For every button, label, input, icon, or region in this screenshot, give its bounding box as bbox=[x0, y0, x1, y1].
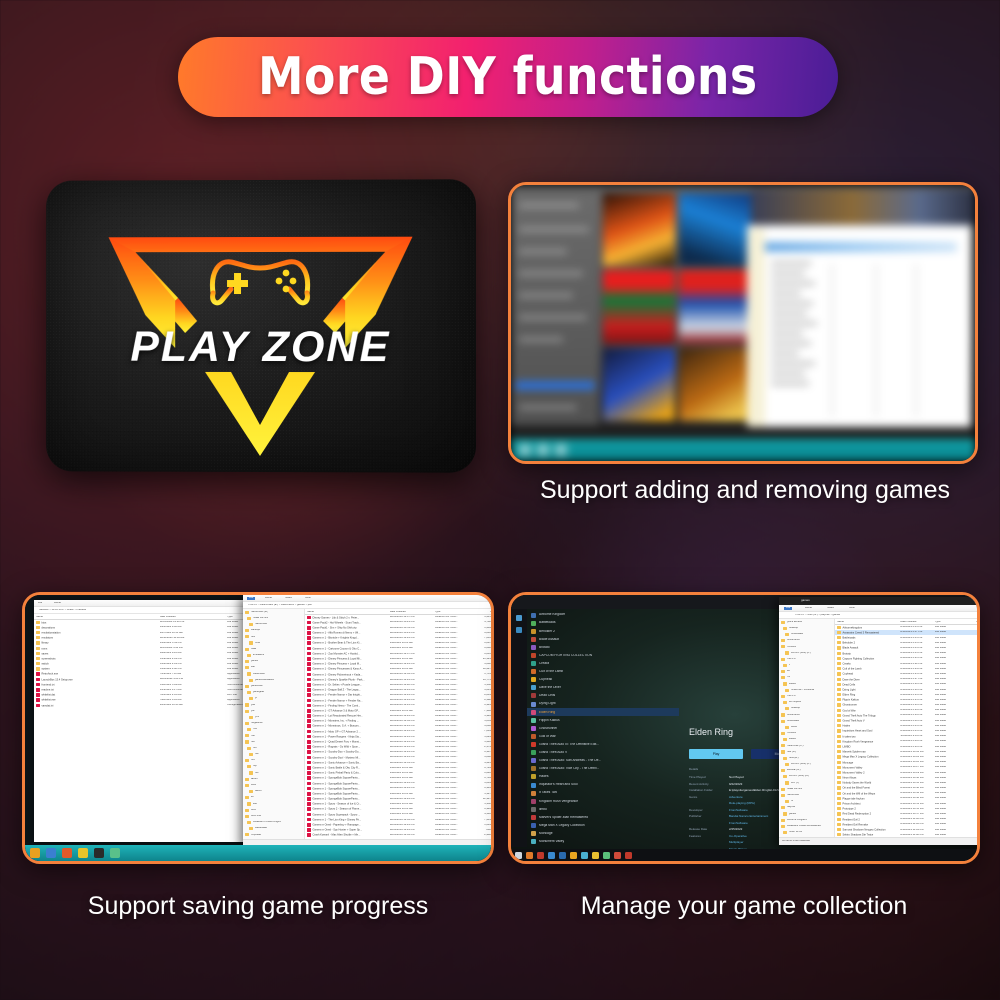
folder-icon bbox=[837, 771, 841, 774]
tree-item-label: Other v1.02 bbox=[789, 831, 803, 834]
cell-date: 8/31/2023 6:30 PM bbox=[900, 683, 935, 686]
folder-icon bbox=[781, 825, 785, 828]
list-item[interactable]: Grand Theft Auto III: The Definitive Edi… bbox=[527, 741, 679, 749]
cell-type: UltraISO ZIP CDR... bbox=[435, 793, 469, 796]
folder-icon bbox=[249, 697, 253, 700]
explorer-window-launchbox[interactable]: File Home Share View This PC > LaunchBox… bbox=[243, 595, 494, 847]
application-icon bbox=[307, 745, 311, 749]
cell-type: File folder bbox=[935, 673, 961, 676]
detail-value: Co-Operative bbox=[729, 834, 747, 838]
list-item[interactable]: Brotato bbox=[527, 643, 679, 651]
taskbar[interactable] bbox=[25, 845, 491, 861]
detail-value: Bandai Namco Entertainment bbox=[729, 814, 768, 818]
cell-name: Airbornekingdom bbox=[837, 626, 900, 630]
cell-date: 12/20/2019 12:24 PM bbox=[390, 741, 435, 744]
cell-size: 1,751 KB bbox=[469, 673, 494, 676]
game-name: Inquisitor's Heart and Soul bbox=[539, 783, 578, 786]
folder-icon bbox=[837, 812, 841, 815]
application-icon bbox=[307, 678, 311, 682]
cell-type: UltraISO ZIP CDR... bbox=[435, 782, 469, 785]
tree-item-label: Music bbox=[791, 726, 798, 729]
cell-name: Games nr 1 - Dr. Seltex + Puzzle League.… bbox=[307, 683, 390, 687]
folder-icon bbox=[837, 683, 841, 686]
folder-icon bbox=[785, 781, 789, 784]
cell-type: File folder bbox=[935, 652, 961, 655]
tree-item-label: Airborne Kingdom bbox=[787, 819, 808, 822]
cell-date: 8/31/2023 10:51 PM bbox=[900, 803, 935, 806]
tree-item-label: BATRO (386) (F:) bbox=[791, 652, 811, 655]
cell-name: Games nr 1 - Finding Nemo - The Conti... bbox=[307, 704, 390, 708]
list-item[interactable]: Marvel's Spider-Man Remastered bbox=[527, 813, 679, 821]
folder-tree[interactable]: LaunchBox (E:)install me firstLaunchBoxB… bbox=[243, 609, 305, 839]
tree-item-label: psp bbox=[253, 765, 257, 768]
screenshot-panel-save-progress: File Home Network > 10.10.10.2 > Share >… bbox=[22, 592, 494, 864]
tree-item-label: switch bbox=[255, 790, 262, 793]
cell-name: Games nr 1 - Disney's Sparkle Plunk - Pa… bbox=[307, 678, 390, 682]
folder-icon bbox=[783, 701, 787, 704]
explorer-addressbar[interactable]: This PC > SSD (G:) > playnite > games bbox=[779, 612, 980, 619]
tree-item-label: snes bbox=[251, 784, 256, 787]
list-item[interactable]: God of War bbox=[527, 732, 679, 740]
cell-type: UltraISO ZIP CDR... bbox=[435, 637, 469, 640]
cell-name: Games nr 1 - Disney Pickmeinout + Kada..… bbox=[307, 673, 390, 677]
cell-date: 8/31/2023 6:05 PM bbox=[900, 626, 935, 629]
cell-date: 8/31/2023 6:05 PM bbox=[900, 637, 935, 640]
tree-item-label: Quick access bbox=[787, 621, 802, 624]
detail-value: Role-playing (RPG) bbox=[729, 801, 755, 805]
cell-size: 4,130 KB bbox=[469, 813, 494, 816]
list-item[interactable]: Cult of the Lamb bbox=[527, 668, 679, 676]
detail-label: Developer bbox=[689, 808, 729, 812]
folder-icon bbox=[785, 726, 789, 729]
cell-date: 8/31/2023 10:57 PM bbox=[900, 813, 935, 816]
game-name: Dave the Diver bbox=[539, 686, 561, 689]
folder-icon bbox=[781, 713, 785, 716]
cell-date: 1/26/2024 9:59 PM bbox=[900, 735, 935, 738]
cell-type: File folder bbox=[935, 782, 961, 785]
cell-type: UltraISO ZIP CDR... bbox=[435, 704, 469, 707]
cell-name: Cult of the Lamb bbox=[837, 667, 900, 671]
playnite-left-rail[interactable] bbox=[511, 609, 527, 847]
folder-icon bbox=[785, 763, 789, 766]
game-cover-grid bbox=[603, 193, 751, 421]
cell-type: UltraISO ZIP CDR... bbox=[435, 813, 469, 816]
game-icon bbox=[531, 637, 536, 642]
game-icon bbox=[531, 702, 536, 707]
cell-name: Games nr Oned - Spy Hunter + Super Sp... bbox=[307, 828, 390, 832]
cell-name: Games nr 1 - Quad Desert Fury + Monst... bbox=[307, 740, 390, 744]
file-list[interactable]: Disney Games - Lilo & Stitch 2 v. Peter.… bbox=[305, 615, 494, 839]
cell-size: 5,147 KB bbox=[469, 793, 494, 796]
list-item[interactable]: Elden Ring bbox=[527, 708, 679, 716]
breadcrumb[interactable]: This PC > LaunchBox (E:) > LaunchBox > g… bbox=[248, 604, 312, 607]
game-name: Hades bbox=[539, 775, 549, 778]
cell-date: 7/22/2021 6:45 AM bbox=[160, 699, 227, 702]
cell-date: 8/14/2022 2:39 PM bbox=[160, 658, 227, 661]
cell-date: 11/16/2022 4:46 PM bbox=[160, 647, 227, 650]
list-item[interactable]: Moncage bbox=[527, 830, 679, 838]
folder-icon bbox=[837, 797, 841, 800]
list-item[interactable]: Ghostrunner bbox=[527, 724, 679, 732]
folder-icon bbox=[781, 658, 785, 661]
cell-size: 5,152 KB bbox=[469, 684, 494, 687]
application-icon bbox=[307, 699, 311, 703]
application-icon bbox=[307, 724, 311, 728]
list-item[interactable]: Grand Theft Auto V bbox=[527, 749, 679, 757]
cell-type: UltraISO ZIP CDR... bbox=[435, 787, 469, 790]
cell-name: Ghostrunner bbox=[837, 703, 900, 707]
cell-date: 7/41/2021 2:05 AM bbox=[160, 694, 227, 697]
application-icon bbox=[307, 652, 311, 656]
cell-date: 8/31/2023 6:05 PM bbox=[900, 642, 935, 645]
cell-date: 6/16/2022 2:39 PM bbox=[160, 663, 227, 666]
folder-icon bbox=[245, 722, 249, 725]
list-item[interactable]: limbo bbox=[527, 805, 679, 813]
explorer-tabs[interactable]: File Home Share View bbox=[779, 605, 980, 612]
list-item[interactable]: Cuphead bbox=[527, 676, 679, 684]
cell-date: 8/31/2023 6:24 PM bbox=[900, 668, 935, 671]
folder-icon bbox=[837, 703, 841, 706]
cell-type: UltraISO ZIP CDR... bbox=[435, 715, 469, 718]
cell-date: 8/11/2022 10:21 AM bbox=[390, 710, 435, 713]
cell-date: 8/31/2023 6:47 PM bbox=[900, 631, 935, 634]
folder-icon bbox=[245, 734, 249, 737]
folder-icon bbox=[785, 651, 789, 654]
list-item[interactable]: Dying Light bbox=[527, 700, 679, 708]
game-icon bbox=[531, 685, 536, 690]
game-name: Dying Light bbox=[539, 702, 556, 705]
game-icon bbox=[531, 710, 536, 715]
cell-name: varsdat.ini bbox=[36, 704, 160, 708]
cell-date: 4/15/2021 3:17 AM bbox=[160, 689, 227, 692]
game-icon bbox=[531, 807, 536, 812]
taskbar[interactable] bbox=[511, 439, 975, 461]
folder-icon bbox=[837, 755, 841, 758]
folder-icon bbox=[785, 633, 789, 636]
cell-date: 8/31/2023 6:05 PM bbox=[900, 652, 935, 655]
cell-type: UltraISO ZIP CDR... bbox=[435, 699, 469, 702]
cell-type: File folder bbox=[935, 709, 961, 712]
cell-date: 8/31/2023 6:45 PM bbox=[900, 725, 935, 728]
folder-icon bbox=[247, 654, 251, 657]
tree-item-label: dreamcast bbox=[253, 673, 265, 676]
game-name: Moncage bbox=[539, 832, 553, 835]
tree-item-label: xbox bbox=[251, 809, 256, 812]
cell-size: 6,665 KB bbox=[469, 653, 494, 656]
tree-item-label: LaunchBox bbox=[787, 794, 800, 797]
list-item[interactable]: It Takes Two bbox=[527, 789, 679, 797]
detail-label: Installation Folder bbox=[689, 788, 729, 792]
tree-item-label: Local Disk (C:) bbox=[787, 745, 804, 748]
cell-size: 21,123 KB bbox=[469, 658, 494, 661]
application-icon bbox=[307, 631, 311, 635]
application-icon bbox=[307, 761, 311, 765]
cell-name: Games nr 1 - SpongeBob SquarePants... bbox=[307, 782, 390, 786]
library-icon[interactable] bbox=[516, 615, 522, 621]
tree-item-label: Videos bbox=[789, 738, 797, 741]
folder-icon bbox=[837, 709, 841, 712]
game-name: Beholder 2 bbox=[539, 630, 555, 633]
game-name: God of War bbox=[539, 735, 556, 738]
cell-size: 4,445 KB bbox=[469, 762, 494, 765]
cell-date: 12/20/2019 10:23 PM bbox=[390, 621, 435, 624]
cell-name: Games nr 1 - Spyro 2 - Season of Flame..… bbox=[307, 807, 390, 811]
cell-date: 8/31/2023 10:35 PM bbox=[900, 782, 935, 785]
folder-icon bbox=[247, 672, 251, 675]
cell-size: 1,234 KB bbox=[469, 824, 494, 827]
cell-type: File folder bbox=[935, 792, 961, 795]
detail-label: Recent Activity bbox=[689, 782, 729, 786]
folder-icon bbox=[247, 747, 251, 750]
tree-item-label: gb bbox=[255, 697, 258, 700]
list-item[interactable]: Battletoads bbox=[527, 619, 679, 627]
cell-name: bios bbox=[36, 621, 160, 625]
cell-size: 8,261 KB bbox=[469, 694, 494, 697]
game-icon bbox=[531, 661, 536, 666]
cell-type: File folder bbox=[935, 663, 961, 666]
cell-date: 8/12/2021 5:49 AM bbox=[160, 684, 227, 687]
list-item[interactable]: Beholder 2 bbox=[527, 627, 679, 635]
folder-icon bbox=[245, 660, 249, 663]
cell-type: UltraISO ZIP CDR... bbox=[435, 653, 469, 656]
cell-size: 5,224 KB bbox=[469, 736, 494, 739]
list-item[interactable]: Flippin Kaktus bbox=[527, 716, 679, 724]
game-name: Dead Cells bbox=[539, 694, 555, 697]
cell-size: 2,960 KB bbox=[469, 834, 494, 837]
cell-size: 1,469 KB bbox=[469, 627, 494, 630]
game-name: Monument Valley bbox=[539, 840, 564, 843]
cell-name: Games nr 1 - Sonic Battle & Oku City R..… bbox=[307, 766, 390, 770]
cell-date: 12/20/2019 12:44 PM bbox=[390, 819, 435, 822]
tree-item-label: ps bbox=[791, 800, 794, 803]
list-item[interactable]: Grand Theft Auto: Vice City - The Defini… bbox=[527, 765, 679, 773]
game-icon bbox=[531, 815, 536, 820]
folder-icon bbox=[249, 623, 253, 626]
game-icon bbox=[531, 677, 536, 682]
cell-name: Dead Cells bbox=[837, 683, 900, 687]
folder-icon bbox=[781, 621, 785, 624]
cell-date: 12/20/2019 12:28 PM bbox=[390, 684, 435, 687]
game-name: Blade Assault bbox=[539, 638, 559, 641]
cell-name: emulationstation bbox=[36, 631, 160, 635]
detail-value: 2/25/2022 bbox=[729, 827, 742, 831]
tree-item-label: Battletoads bbox=[255, 827, 268, 830]
game-icon bbox=[531, 645, 536, 650]
cell-name: Flippin Kaktus bbox=[837, 698, 900, 702]
application-icon bbox=[36, 672, 40, 676]
game-list[interactable]: Airborne KingdomBattletoadsBeholder 2Bla… bbox=[527, 611, 679, 845]
explorer-window-playnite-games[interactable]: games File Home Share View This PC > SSD… bbox=[779, 597, 980, 845]
game-icon bbox=[531, 799, 536, 804]
folder-icon bbox=[245, 629, 249, 632]
tree-item-label: xbox one bbox=[251, 815, 262, 818]
cell-date: 12/20/2019 12:24 PM bbox=[390, 756, 435, 759]
list-item[interactable]: Blade Assault bbox=[527, 635, 679, 643]
cell-size: 6,087 KB bbox=[469, 642, 494, 645]
folder-icon bbox=[837, 818, 841, 821]
cell-date: 12/20/2019 12:47 PM bbox=[390, 616, 435, 619]
application-icon bbox=[307, 662, 311, 666]
table-row[interactable]: Crash Korean! - Max Alien Shuttle + Me..… bbox=[305, 833, 494, 838]
explorer-sidebar bbox=[747, 228, 765, 427]
list-item[interactable]: Dave the Diver bbox=[527, 684, 679, 692]
cell-date: 8/31/2023 10:04 PM bbox=[900, 751, 935, 754]
list-item[interactable]: Inquisitor's Heart and Soul bbox=[527, 781, 679, 789]
cell-date: 8/31/2023 10:29 PM bbox=[900, 772, 935, 775]
cell-type: File folder bbox=[935, 772, 961, 775]
application-icon bbox=[36, 704, 40, 708]
cell-name: Dave the Diver bbox=[837, 678, 900, 682]
cell-name: Resident Evil 2 bbox=[837, 818, 900, 822]
folder-icon bbox=[837, 792, 841, 795]
cell-size: 5,352 KB bbox=[469, 803, 494, 806]
folder-icon bbox=[837, 735, 841, 738]
cell-date: 12/20/2019 12:44 PM bbox=[390, 673, 435, 676]
game-name: limbo bbox=[539, 808, 547, 811]
start-icon[interactable] bbox=[515, 852, 522, 859]
cell-type: File folder bbox=[935, 689, 961, 692]
cell-date: 8/31/2023 6:25 PM bbox=[900, 673, 935, 676]
cell-size: 7,203 KB bbox=[469, 730, 494, 733]
cell-date: 8/11/2022 10:21 AM bbox=[390, 777, 435, 780]
folder-icon bbox=[785, 800, 789, 803]
cell-date: 11/05/2022 12:39 PM bbox=[160, 621, 227, 624]
tree-item-label: Pictures bbox=[787, 732, 796, 735]
cell-type: File folder bbox=[935, 647, 961, 650]
folder-icon bbox=[837, 776, 841, 779]
detail-value: Multiplayer bbox=[729, 840, 744, 844]
emulators-icon[interactable] bbox=[516, 627, 522, 633]
cell-type: File folder bbox=[935, 683, 961, 686]
tree-item-label: OneDrive - Personal bbox=[791, 689, 815, 692]
folder-tree[interactable]: Quick accessDesktopDownloadsDocumentsPic… bbox=[779, 619, 835, 837]
list-item[interactable]: CAPCOM FIGHTING COLLECTION bbox=[527, 651, 679, 659]
cell-name: Prison Architect bbox=[837, 802, 900, 806]
cell-size: 3,000 KB bbox=[469, 725, 494, 728]
application-icon bbox=[307, 693, 311, 697]
list-item[interactable]: Hades bbox=[527, 773, 679, 781]
folder-icon bbox=[247, 617, 251, 620]
list-item[interactable]: Grand Theft Auto: San Andreas - The De..… bbox=[527, 757, 679, 765]
folder-icon bbox=[837, 646, 841, 649]
tree-item-label: Documents bbox=[787, 639, 800, 642]
tree-item-label: Downloads bbox=[791, 633, 804, 636]
cell-date: 12/22/2022 4:26 PM bbox=[160, 678, 227, 681]
tree-item-label: games bbox=[789, 813, 797, 816]
cell-type: UltraISO ZIP CDR... bbox=[435, 632, 469, 635]
application-icon bbox=[307, 735, 311, 739]
list-item[interactable]: Dead Cells bbox=[527, 692, 679, 700]
game-icon bbox=[531, 766, 536, 771]
folder-icon bbox=[781, 750, 785, 753]
application-icon bbox=[307, 802, 311, 806]
folder-icon bbox=[781, 794, 785, 797]
folder-icon bbox=[247, 728, 251, 731]
game-name: Mega Man X Legacy Collection bbox=[539, 824, 585, 827]
game-icon bbox=[531, 734, 536, 739]
detail-label: Features bbox=[689, 834, 729, 838]
tree-item-label: ps1 bbox=[253, 747, 257, 750]
folder-icon bbox=[249, 827, 253, 830]
tree-item-label: Pix bbox=[787, 676, 791, 679]
tree-item-label: New (E:) bbox=[789, 757, 799, 760]
folder-icon bbox=[837, 823, 841, 826]
folder-icon bbox=[837, 631, 841, 634]
list-item[interactable]: Kingdom Rush Vengeance bbox=[527, 797, 679, 805]
cell-type: UltraISO ZIP CDR... bbox=[435, 808, 469, 811]
breadcrumb[interactable]: This PC > SSD (G:) > playnite > games bbox=[795, 614, 840, 617]
cell-name: Neon Abyss bbox=[837, 776, 900, 780]
game-name: Cuphead bbox=[539, 678, 552, 681]
folder-icon bbox=[783, 738, 787, 741]
detail-value: FromSoftware bbox=[729, 808, 748, 812]
tree-item-label: Backups bbox=[251, 629, 261, 632]
cell-size: 6,344 KB bbox=[469, 704, 494, 707]
explorer-addressbar[interactable]: This PC > LaunchBox (E:) > LaunchBox > g… bbox=[243, 602, 494, 609]
breadcrumb[interactable]: Network > 10.10.10.2 > Share > PlaneBd bbox=[39, 609, 86, 612]
folder-icon bbox=[785, 707, 789, 710]
cell-date: 12/20/2019 12:24 PM bbox=[390, 694, 435, 697]
tree-item-label: games bbox=[251, 660, 259, 663]
cell-name: Games nr 1 - Cartoons Cocoon & Oku C... bbox=[307, 647, 390, 651]
cell-type: File folder bbox=[935, 740, 961, 743]
cell-name: Ori and the Will of the Wisps bbox=[837, 792, 900, 796]
cell-type: UltraISO ZIP CDR... bbox=[435, 751, 469, 754]
game-icon bbox=[531, 831, 536, 836]
file-list[interactable]: Airbornekingdom8/31/2023 6:05 PMFile fol… bbox=[835, 625, 980, 837]
game-name: Ghostrunner bbox=[539, 727, 557, 730]
list-item[interactable]: Airborne Kingdom bbox=[527, 611, 679, 619]
list-item[interactable]: Creaks bbox=[527, 660, 679, 668]
cell-name: decorations bbox=[36, 626, 160, 630]
play-button[interactable]: Play bbox=[689, 749, 743, 759]
list-item[interactable]: Monument Valley bbox=[527, 838, 679, 845]
cell-date: 12/20/2019 12:24 PM bbox=[390, 782, 435, 785]
folder-icon bbox=[247, 802, 251, 805]
cell-date: 8/31/2023 10:40 PM bbox=[900, 787, 935, 790]
cell-type: UltraISO ZIP CDR... bbox=[435, 621, 469, 624]
cell-size: 6,200 KB bbox=[469, 647, 494, 650]
cell-size: 6,334 KB bbox=[469, 787, 494, 790]
explorer-titlebar[interactable]: File Home Share View bbox=[243, 595, 494, 602]
application-icon bbox=[307, 647, 311, 651]
folder-icon bbox=[837, 750, 841, 753]
application-icon bbox=[36, 698, 40, 702]
folder-icon bbox=[245, 635, 249, 638]
cell-name: Red Dead Redemption 2 bbox=[837, 812, 900, 816]
taskbar[interactable] bbox=[511, 849, 977, 861]
cell-size: 16,775 KB bbox=[469, 679, 494, 682]
application-icon bbox=[307, 636, 311, 640]
list-item[interactable]: Mega Man X Legacy Collection bbox=[527, 821, 679, 829]
game-name: Kingdom Rush Vengeance bbox=[539, 800, 578, 803]
tree-item-label: nes bbox=[251, 741, 255, 744]
cell-date: 8/11/2022 10:21 AM bbox=[390, 803, 435, 806]
launcher-sidebar bbox=[511, 193, 599, 425]
cell-name: It takes two bbox=[837, 735, 900, 739]
cell-name: Game Pack2 - Hot Wheels - Stunt Track... bbox=[307, 621, 390, 625]
cell-date: 4/21/2022 9:40 AM bbox=[160, 626, 227, 629]
cell-name: Samurai Shodown Neogeo Collection bbox=[837, 828, 900, 832]
cell-date: 8/31/2023 11:08 PM bbox=[900, 834, 935, 837]
application-icon bbox=[307, 709, 311, 713]
explorer-titlebar[interactable]: games bbox=[779, 597, 980, 605]
cell-date: 12/20/2019 12:24 PM bbox=[390, 699, 435, 702]
cell-name: Games nr 1 - SpongeBob SquarePants... bbox=[307, 776, 390, 780]
cell-size: 6,307 KB bbox=[469, 751, 494, 754]
cell-name: Grand Theft Auto V bbox=[837, 719, 900, 723]
game-icon bbox=[531, 629, 536, 634]
